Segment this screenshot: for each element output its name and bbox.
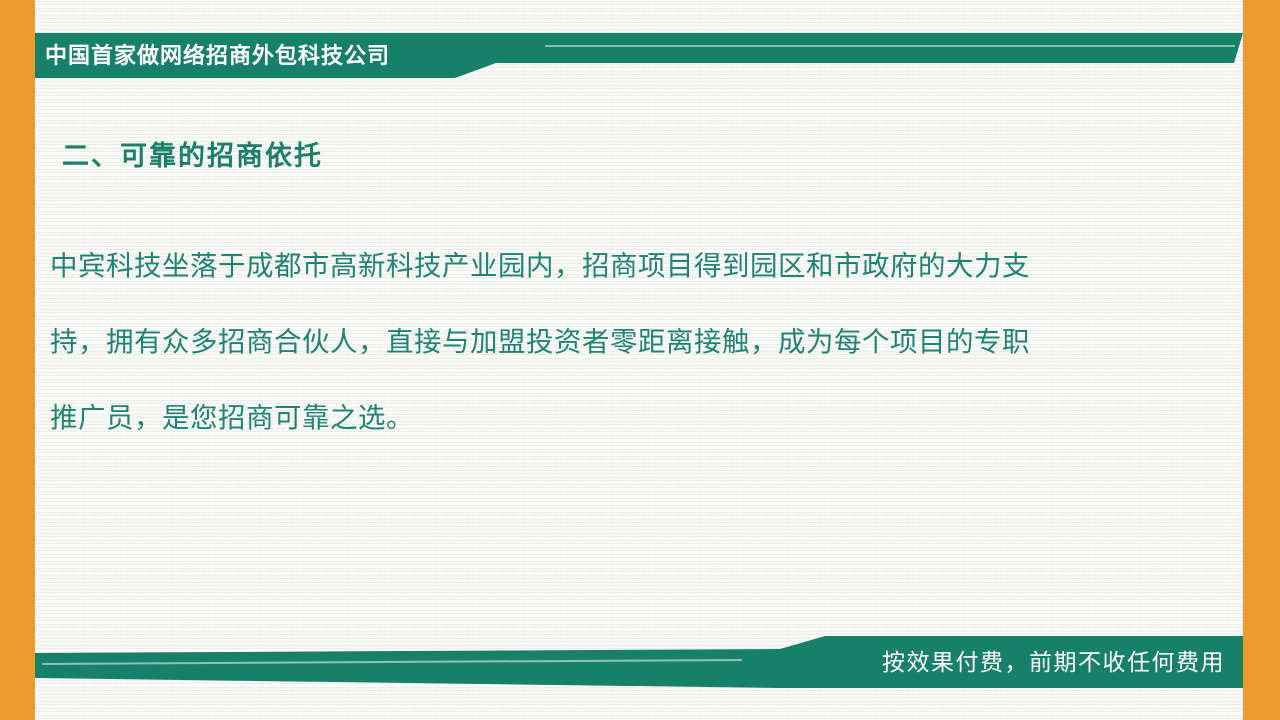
body-paragraph: 中宾科技坐落于成都市高新科技产业园内，招商项目得到园区和市政府的大力支 持，拥有… xyxy=(50,228,1190,456)
body-line-3: 推广员，是您招商可靠之选。 xyxy=(50,380,1190,456)
footer-tagline: 按效果付费，前期不收任何费用 xyxy=(882,636,1225,688)
body-line-2: 持，拥有众多招商合伙人，直接与加盟投资者零距离接触，成为每个项目的专职 xyxy=(50,304,1190,380)
header-hairline xyxy=(545,45,1235,47)
slide: 中国首家做网络招商外包科技公司 二、可靠的招商依托 中宾科技坐落于成都市高新科技… xyxy=(0,0,1280,720)
section-title: 二、可靠的招商依托 xyxy=(62,134,323,173)
body-line-1: 中宾科技坐落于成都市高新科技产业园内，招商项目得到园区和市政府的大力支 xyxy=(50,228,1190,304)
header-title: 中国首家做网络招商外包科技公司 xyxy=(45,33,390,78)
